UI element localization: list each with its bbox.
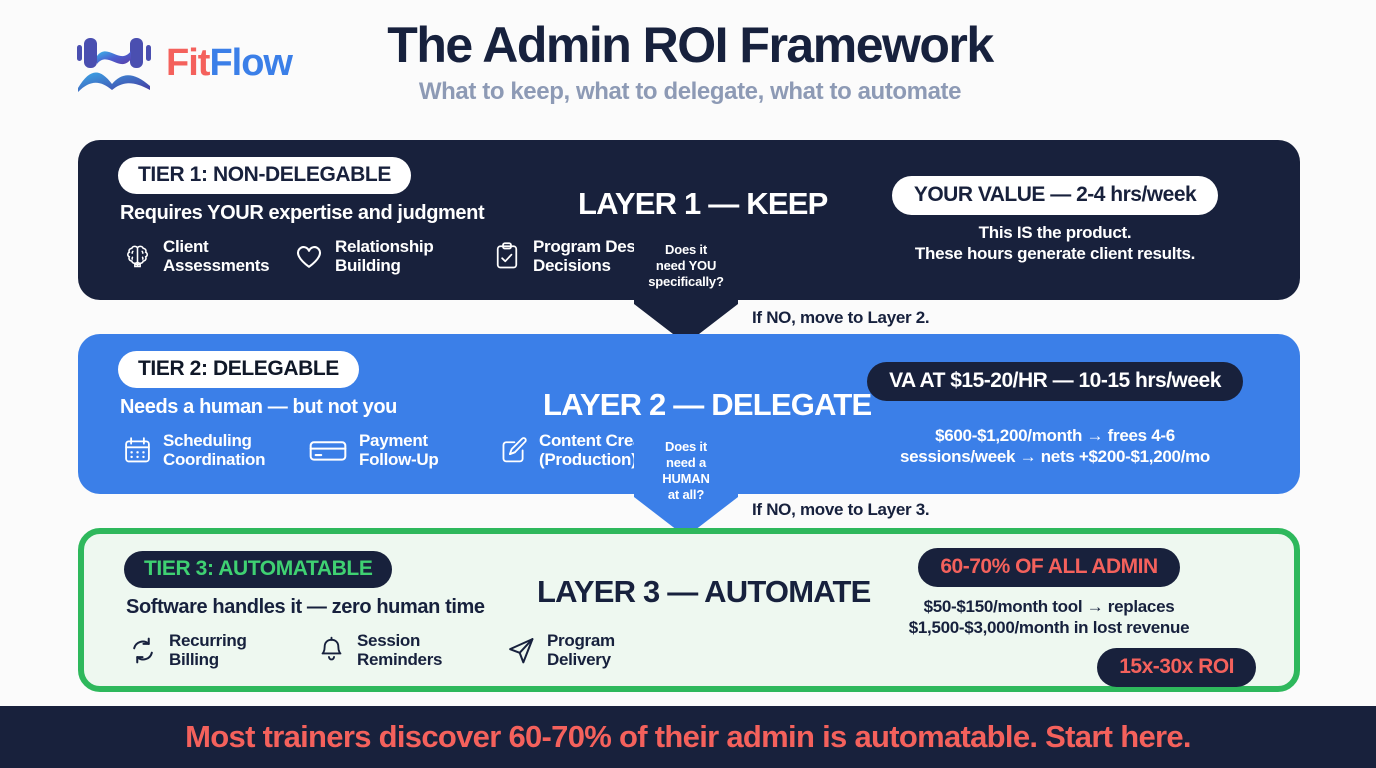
connector-question: Does it need YOU specifically? bbox=[634, 242, 738, 290]
value-note-line-1: $50-$150/month tool → replaces bbox=[924, 597, 1175, 616]
tier-3-panel: TIER 3: AUTOMATABLE Software handles it … bbox=[78, 528, 1300, 692]
tier-2-badge: TIER 2: DELEGABLE bbox=[118, 351, 359, 388]
list-item-label: PaymentFollow-Up bbox=[359, 431, 438, 469]
clipboard-check-icon bbox=[490, 238, 524, 274]
connector-question: Does it need a HUMAN at all? bbox=[634, 439, 738, 502]
brand-logo: FitFlow bbox=[68, 30, 318, 96]
label-line-2: Follow-Up bbox=[359, 450, 438, 469]
label-line-2: Reminders bbox=[357, 650, 442, 669]
page-subtitle: What to keep, what to delegate, what to … bbox=[340, 78, 1040, 106]
calendar-icon bbox=[120, 432, 154, 468]
label-line-1: Recurring bbox=[169, 631, 247, 650]
heart-icon bbox=[292, 238, 326, 274]
label-line-2: Building bbox=[335, 256, 401, 275]
brand-name-part2: Flow bbox=[209, 42, 292, 84]
layer-3-title: LAYER 3 — AUTOMATE bbox=[537, 574, 871, 610]
tier-2-items: SchedulingCoordination PaymentFollow-Up bbox=[120, 431, 672, 469]
credit-card-icon bbox=[306, 432, 350, 468]
list-item-label: ClientAssessments bbox=[163, 237, 269, 275]
question-line-1: Does it bbox=[665, 242, 707, 257]
label-line-2: Assessments bbox=[163, 256, 269, 275]
question-line-3: specifically? bbox=[648, 274, 723, 289]
list-item: RecurringBilling bbox=[126, 631, 314, 669]
list-item-label: ProgramDelivery bbox=[547, 631, 615, 669]
title-block: The Admin ROI Framework What to keep, wh… bbox=[340, 18, 1040, 106]
list-item-label: SchedulingCoordination bbox=[163, 431, 265, 469]
tier-3-value-block: 60-70% OF ALL ADMIN $50-$150/month tool … bbox=[834, 548, 1264, 687]
if-no-label-1: If NO, move to Layer 2. bbox=[752, 308, 929, 328]
footer-text: Most trainers discover 60-70% of their a… bbox=[185, 719, 1191, 755]
label-line-1: Scheduling bbox=[163, 431, 252, 450]
brain-icon bbox=[120, 238, 154, 274]
label-line-2: (Production) bbox=[539, 450, 636, 469]
tier-3-value-note: $50-$150/month tool → replaces $1,500-$3… bbox=[834, 596, 1264, 639]
label-line-2: Billing bbox=[169, 650, 219, 669]
list-item-label: RelationshipBuilding bbox=[335, 237, 433, 275]
list-item-label: RecurringBilling bbox=[169, 631, 247, 669]
footer-banner: Most trainers discover 60-70% of their a… bbox=[0, 706, 1376, 768]
tier-2-value-note: $600-$1,200/month → frees 4-6 sessions/w… bbox=[840, 425, 1270, 468]
label-line-2: Coordination bbox=[163, 450, 265, 469]
tier-3-roi-wrap: 15x-30x ROI bbox=[834, 648, 1264, 687]
tier-2-value-block: VA AT $15-20/HR — 10-15 hrs/week $600-$1… bbox=[840, 362, 1270, 468]
dumbbell-wave-logo-icon bbox=[68, 32, 160, 94]
tier-3-value-badge: 60-70% OF ALL ADMIN bbox=[918, 548, 1179, 587]
tier-3-items: RecurringBilling SessionReminders bbox=[126, 631, 615, 669]
list-item: ProgramDelivery bbox=[504, 631, 615, 669]
question-line-2: need YOU bbox=[656, 258, 716, 273]
tier-1-value-badge: YOUR VALUE — 2-4 hrs/week bbox=[892, 176, 1218, 215]
tier-1-value-block: YOUR VALUE — 2-4 hrs/week This IS the pr… bbox=[840, 176, 1270, 265]
label-line-1: Relationship bbox=[335, 237, 433, 256]
list-item: ClientAssessments bbox=[120, 237, 292, 275]
tier-1-subtitle: Requires YOUR expertise and judgment bbox=[120, 202, 484, 225]
label-line-2: Delivery bbox=[547, 650, 611, 669]
tier-2-value-badge: VA AT $15-20/HR — 10-15 hrs/week bbox=[867, 362, 1243, 401]
tier-3-badge: TIER 3: AUTOMATABLE bbox=[124, 551, 392, 588]
value-note-line-2: sessions/week → nets +$200-$1,200/mo bbox=[900, 447, 1210, 466]
question-line-2: need a bbox=[666, 455, 706, 470]
label-line-1: Program bbox=[547, 631, 615, 650]
recurring-arrows-icon bbox=[126, 632, 160, 668]
label-line-1: Session bbox=[357, 631, 420, 650]
brand-name-part1: Fit bbox=[166, 42, 209, 84]
paper-plane-icon bbox=[504, 632, 538, 668]
value-note-line-1: $600-$1,200/month → frees 4-6 bbox=[935, 426, 1175, 445]
tier-3-roi-badge: 15x-30x ROI bbox=[1097, 648, 1256, 687]
list-item: PaymentFollow-Up bbox=[306, 431, 496, 469]
header: FitFlow The Admin ROI Framework What to … bbox=[0, 0, 1376, 132]
tier-3-subtitle: Software handles it — zero human time bbox=[126, 596, 485, 619]
layer-2-title: LAYER 2 — DELEGATE bbox=[543, 387, 871, 423]
if-no-label-2: If NO, move to Layer 3. bbox=[752, 500, 929, 520]
bell-icon bbox=[314, 632, 348, 668]
label-line-2: Decisions bbox=[533, 256, 611, 275]
pencil-square-icon bbox=[496, 432, 530, 468]
layer-1-title: LAYER 1 — KEEP bbox=[578, 186, 828, 222]
question-line-4: at all? bbox=[668, 487, 704, 502]
list-item: RelationshipBuilding bbox=[292, 237, 490, 275]
question-line-1: Does it bbox=[665, 439, 707, 454]
label-line-1: Payment bbox=[359, 431, 428, 450]
tier-2-subtitle: Needs a human — but not you bbox=[120, 396, 397, 419]
question-line-3: HUMAN bbox=[662, 471, 709, 486]
tier-1-value-note: This IS the product. These hours generat… bbox=[840, 222, 1270, 265]
page-title: The Admin ROI Framework bbox=[340, 18, 1040, 72]
value-note-line-1: This IS the product. bbox=[979, 223, 1132, 242]
value-note-line-2: These hours generate client results. bbox=[915, 244, 1195, 263]
tier-1-badge: TIER 1: NON-DELEGABLE bbox=[118, 157, 411, 194]
label-line-1: Client bbox=[163, 237, 208, 256]
list-item: SchedulingCoordination bbox=[120, 431, 306, 469]
list-item-label: SessionReminders bbox=[357, 631, 442, 669]
value-note-line-2: $1,500-$3,000/month in lost revenue bbox=[909, 618, 1190, 637]
tier-1-items: ClientAssessments RelationshipBuilding bbox=[120, 237, 660, 275]
list-item: SessionReminders bbox=[314, 631, 504, 669]
infographic-canvas: FitFlow The Admin ROI Framework What to … bbox=[0, 0, 1376, 768]
brand-wordmark: FitFlow bbox=[166, 44, 292, 82]
